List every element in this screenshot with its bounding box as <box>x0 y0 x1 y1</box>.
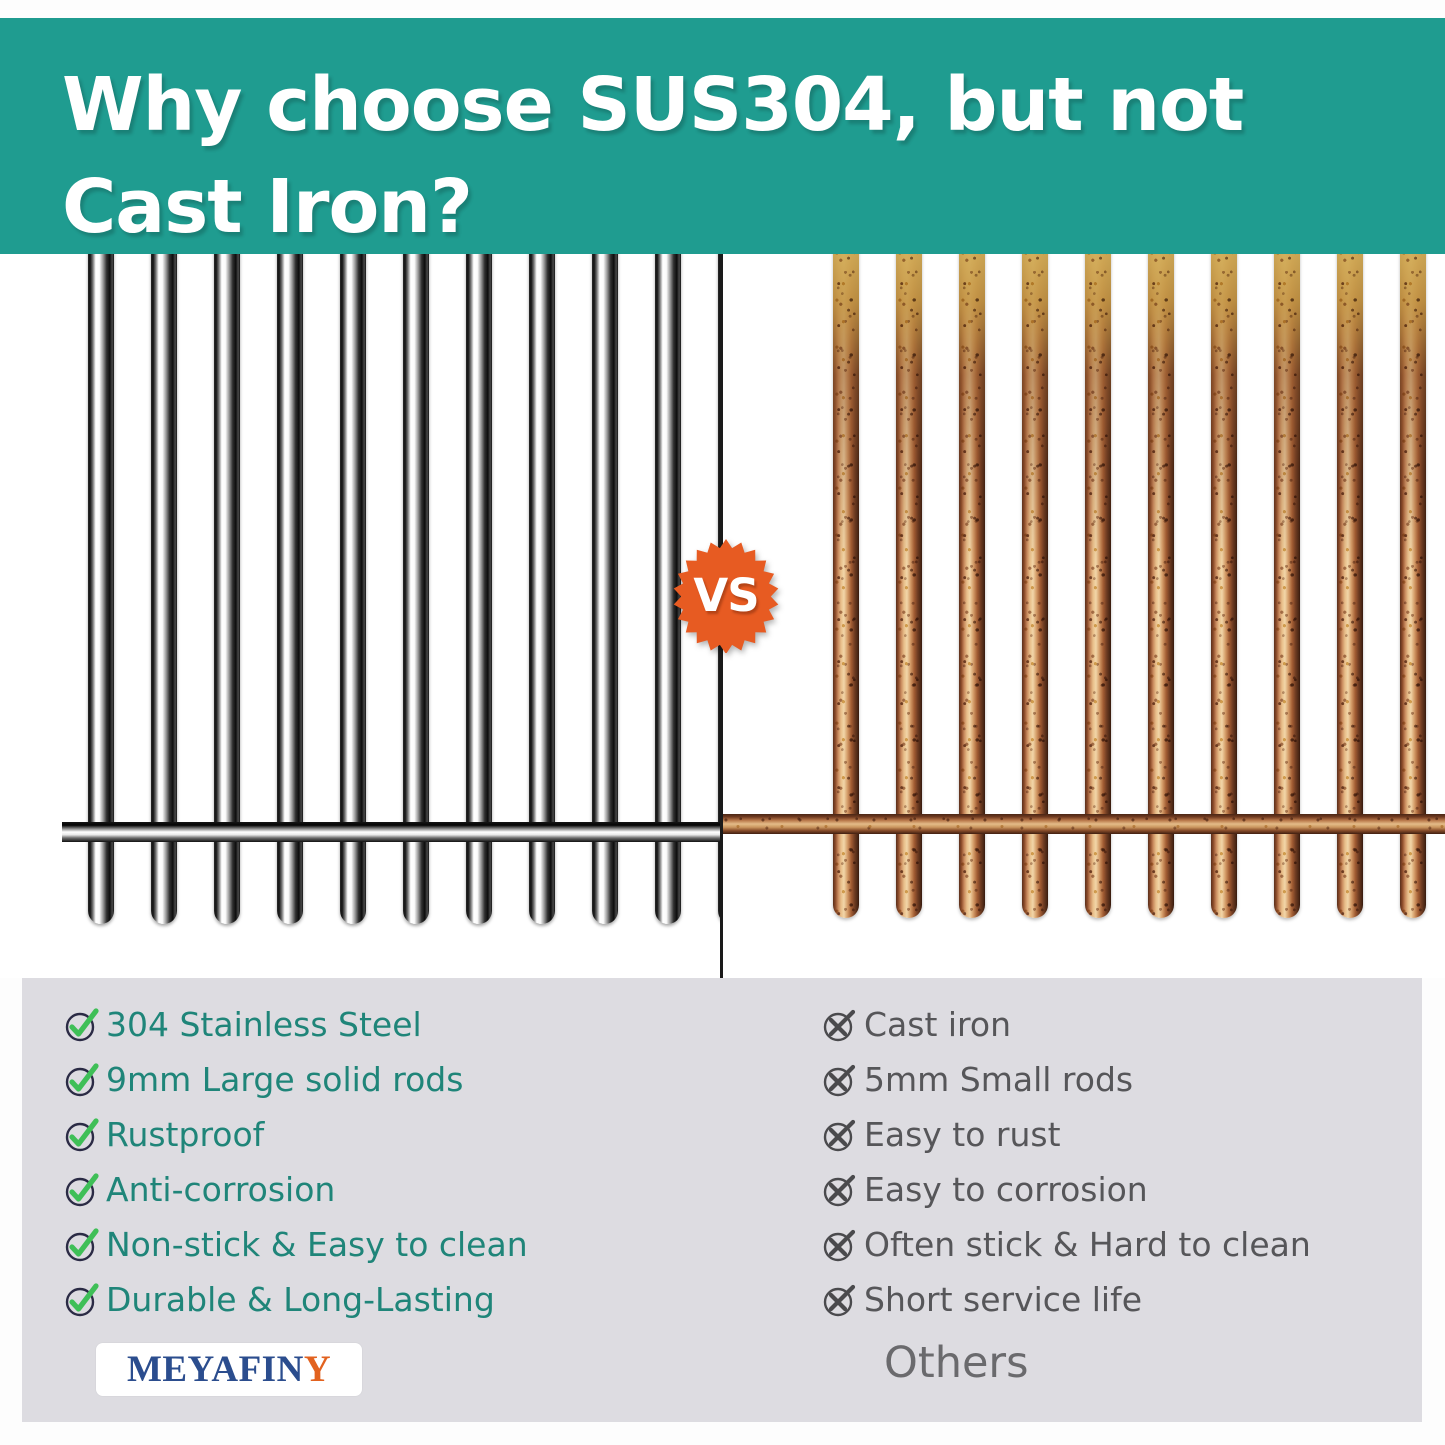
cross-circle-icon <box>820 1005 864 1045</box>
brand-logo: MEYAFINY <box>96 1343 362 1396</box>
check-circle-icon <box>62 1280 106 1320</box>
check-circle-icon <box>62 1115 106 1155</box>
cast-iron-grate-image <box>723 254 1445 978</box>
brand-name-main: MEYAFIN <box>127 1349 304 1390</box>
pro-list-item: 304 Stainless Steel <box>62 997 702 1052</box>
cross-circle-icon <box>820 1170 864 1210</box>
con-list-item: Short service life <box>820 1272 1400 1327</box>
feature-label: Anti-corrosion <box>106 1170 335 1209</box>
con-list-item: 5mm Small rods <box>820 1052 1400 1107</box>
feature-label: Cast iron <box>864 1005 1011 1044</box>
brand-name-tail: Y <box>304 1349 331 1390</box>
check-circle-icon <box>62 1170 106 1210</box>
check-circle-icon <box>62 1005 106 1045</box>
pros-list: 304 Stainless Steel9mm Large solid rodsR… <box>62 978 702 1327</box>
others-label: Others <box>884 1338 1029 1388</box>
feature-label: Short service life <box>864 1280 1142 1319</box>
stainless-steel-grate-image <box>0 254 722 978</box>
rust-cross-rod <box>723 814 1445 834</box>
feature-label: Rustproof <box>106 1115 264 1154</box>
pro-list-item: Durable & Long-Lasting <box>62 1272 702 1327</box>
infographic-page: Why choose SUS304, but not Cast Iron? VS… <box>0 0 1445 1445</box>
cross-circle-icon <box>820 1280 864 1320</box>
vs-badge: VS <box>668 537 784 653</box>
cross-circle-icon <box>820 1225 864 1265</box>
vs-label: VS <box>668 537 784 653</box>
con-list-item: Easy to rust <box>820 1107 1400 1162</box>
pro-list-item: Non-stick & Easy to clean <box>62 1217 702 1272</box>
feature-label: 9mm Large solid rods <box>106 1060 463 1099</box>
pro-list-item: Rustproof <box>62 1107 702 1162</box>
pro-list-item: 9mm Large solid rods <box>62 1052 702 1107</box>
feature-label: Easy to corrosion <box>864 1170 1148 1209</box>
cross-circle-icon <box>820 1060 864 1100</box>
cross-circle-icon <box>820 1115 864 1155</box>
brand-name: MEYAFINY <box>127 1351 331 1388</box>
steel-cross-rod-end-nub <box>68 822 100 842</box>
con-list-item: Cast iron <box>820 997 1400 1052</box>
feature-label: Durable & Long-Lasting <box>106 1280 495 1319</box>
con-list-item: Often stick & Hard to clean <box>820 1217 1400 1272</box>
feature-label: Easy to rust <box>864 1115 1061 1154</box>
feature-label: Often stick & Hard to clean <box>864 1225 1311 1264</box>
feature-label: Non-stick & Easy to clean <box>106 1225 528 1264</box>
steel-cross-rod <box>62 822 722 842</box>
check-circle-icon <box>62 1060 106 1100</box>
cons-list: Cast iron5mm Small rodsEasy to rustEasy … <box>820 978 1400 1327</box>
page-title: Why choose SUS304, but not Cast Iron? <box>62 54 1262 258</box>
header-banner: Why choose SUS304, but not Cast Iron? <box>0 18 1445 254</box>
feature-label: 5mm Small rods <box>864 1060 1133 1099</box>
pro-list-item: Anti-corrosion <box>62 1162 702 1217</box>
check-circle-icon <box>62 1225 106 1265</box>
con-list-item: Easy to corrosion <box>820 1162 1400 1217</box>
feature-label: 304 Stainless Steel <box>106 1005 422 1044</box>
